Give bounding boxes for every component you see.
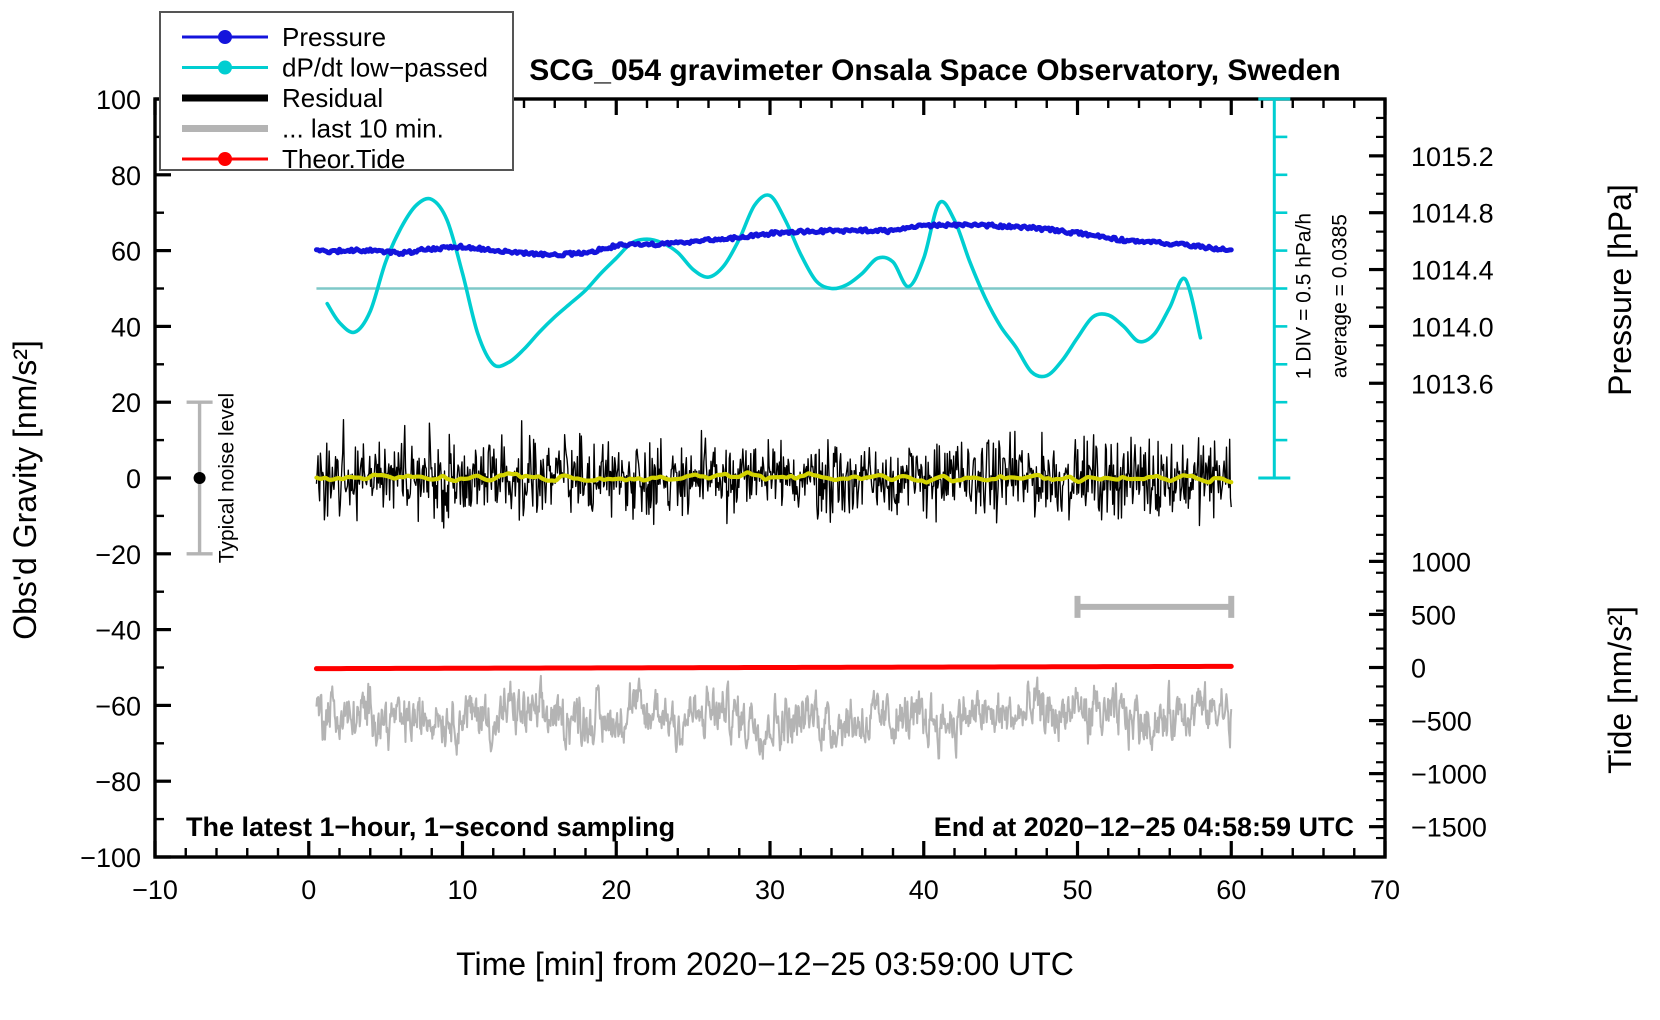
legend-label: Residual — [282, 83, 383, 113]
footer-note-left: The latest 1−hour, 1−second sampling — [186, 812, 675, 842]
pressure-tick-label: 1014.0 — [1411, 312, 1494, 342]
legend-label: Theor.Tide — [282, 144, 405, 174]
theoretical-tide-curve — [316, 666, 1231, 668]
x-tick-label: 30 — [755, 875, 785, 905]
tide-tick-label: 1000 — [1411, 547, 1471, 577]
noise-level-label: Typical noise level — [216, 393, 239, 563]
y-tick-label: 40 — [111, 312, 141, 342]
y-tick-label: −100 — [80, 843, 141, 873]
legend-marker-dot — [218, 30, 232, 44]
x-tick-label: 10 — [447, 875, 477, 905]
footer-note-right: End at 2020−12−25 04:58:59 UTC — [934, 812, 1354, 842]
legend-label: ... last 10 min. — [282, 114, 444, 144]
dpdt-scale-caption-div: 1 DIV = 0.5 hPa/h — [1292, 213, 1315, 379]
y-tick-label: 80 — [111, 161, 141, 191]
pressure-tick-label: 1014.4 — [1411, 256, 1494, 286]
legend-marker-dot — [218, 61, 232, 75]
gravimeter-chart: −10010203040506070 100806040200−20−40−60… — [0, 0, 1660, 1020]
tide-tick-label: 0 — [1411, 654, 1426, 684]
y-tick-label: 60 — [111, 237, 141, 267]
y-tick-label: −80 — [95, 767, 141, 797]
x-tick-label: 0 — [301, 875, 316, 905]
tide-axis-label: Tide [nm/s²] — [1602, 606, 1638, 774]
x-tick-label: 70 — [1370, 875, 1400, 905]
y-tick-label: 20 — [111, 388, 141, 418]
pressure-axis-label: Pressure [hPa] — [1602, 184, 1638, 396]
page-title: SCG_054 gravimeter Onsala Space Observat… — [529, 54, 1341, 87]
y-tick-label: −20 — [95, 540, 141, 570]
x-tick-label: 20 — [601, 875, 631, 905]
dpdt-scale-caption-average: average = 0.0385 — [1328, 214, 1351, 378]
pressure-tick-label: 1015.2 — [1411, 142, 1494, 172]
legend-label: Pressure — [282, 22, 386, 52]
x-axis-label: Time [min] from 2020−12−25 03:59:00 UTC — [456, 946, 1074, 982]
y-tick-label: −60 — [95, 691, 141, 721]
x-tick-label: 60 — [1216, 875, 1246, 905]
tide-tick-label: 500 — [1411, 600, 1456, 630]
legend-label: dP/dt low−passed — [282, 53, 488, 83]
legend-marker-dot — [218, 152, 232, 166]
legend: PressuredP/dt low−passedResidual... last… — [160, 12, 513, 174]
y-tick-label: 100 — [96, 85, 141, 115]
y-tick-label: 0 — [126, 464, 141, 494]
y-axis-left-label: Obs'd Gravity [nm/s²] — [7, 340, 43, 640]
tide-tick-label: −1000 — [1411, 760, 1487, 790]
pressure-tick-label: 1014.8 — [1411, 199, 1494, 229]
pressure-tick-label: 1013.6 — [1411, 369, 1494, 399]
plot-root: −10010203040506070 100806040200−20−40−60… — [0, 0, 1660, 1020]
y-tick-label: −40 — [95, 616, 141, 646]
x-tick-label: 40 — [909, 875, 939, 905]
x-tick-label: −10 — [132, 875, 178, 905]
x-tick-label: 50 — [1062, 875, 1092, 905]
tide-tick-label: −1500 — [1411, 813, 1487, 843]
noise-center-dot — [194, 472, 206, 484]
tide-tick-label: −500 — [1411, 707, 1472, 737]
